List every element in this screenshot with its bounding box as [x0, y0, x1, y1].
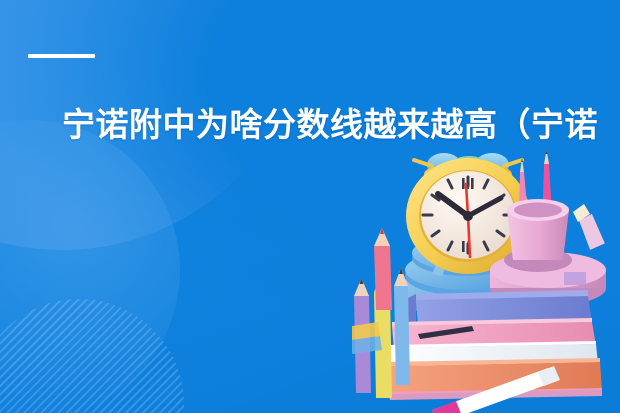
accent-rule — [28, 54, 95, 58]
book-stack — [386, 290, 602, 400]
cup-eraser-stick — [573, 204, 608, 251]
study-supplies-illustration — [352, 150, 620, 413]
colored-pencils — [354, 228, 410, 398]
sticky-note — [352, 322, 382, 354]
colored-pencil-coral — [374, 228, 392, 310]
colored-pencil-blue — [394, 268, 410, 385]
banner-image: 宁诺附中为啥分数线越来越高（宁诺 — [0, 0, 620, 413]
headline-text: 宁诺附中为啥分数线越来越高（宁诺 — [62, 104, 620, 146]
